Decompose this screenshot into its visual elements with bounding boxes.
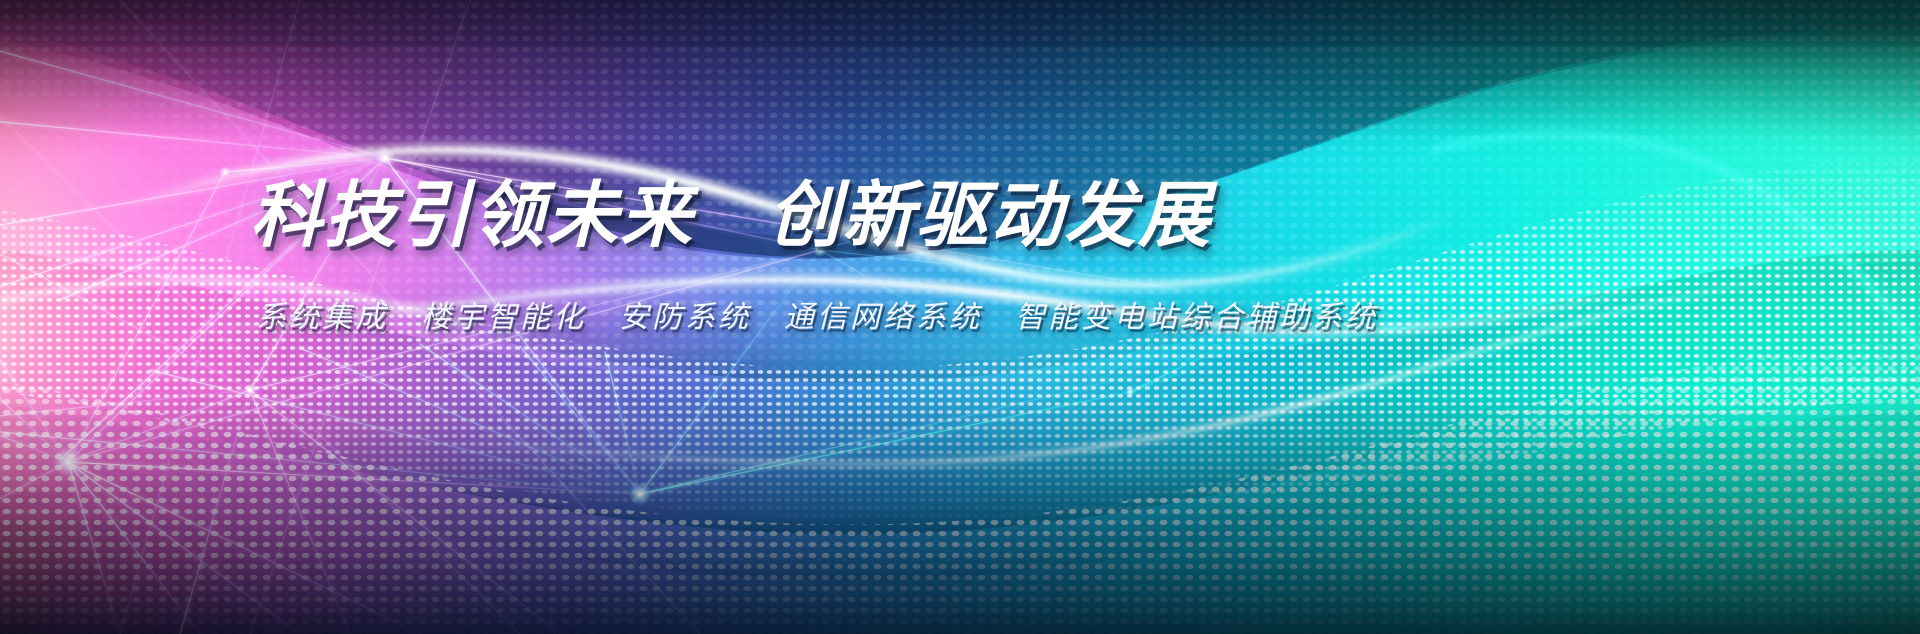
teal-glow	[1200, 40, 1920, 634]
hero-banner: 科技引领未来 创新驱动发展 系统集成 楼宇智能化 安防系统 通信网络系统 智能变…	[0, 0, 1920, 634]
banner-subtitle: 系统集成 楼宇智能化 安防系统 通信网络系统 智能变电站综合辅助系统	[256, 292, 1370, 336]
banner-text-block: 科技引领未来 创新驱动发展 系统集成 楼宇智能化 安防系统 通信网络系统 智能变…	[250, 180, 1370, 336]
page-title: 科技引领未来 创新驱动发展	[250, 180, 1370, 252]
